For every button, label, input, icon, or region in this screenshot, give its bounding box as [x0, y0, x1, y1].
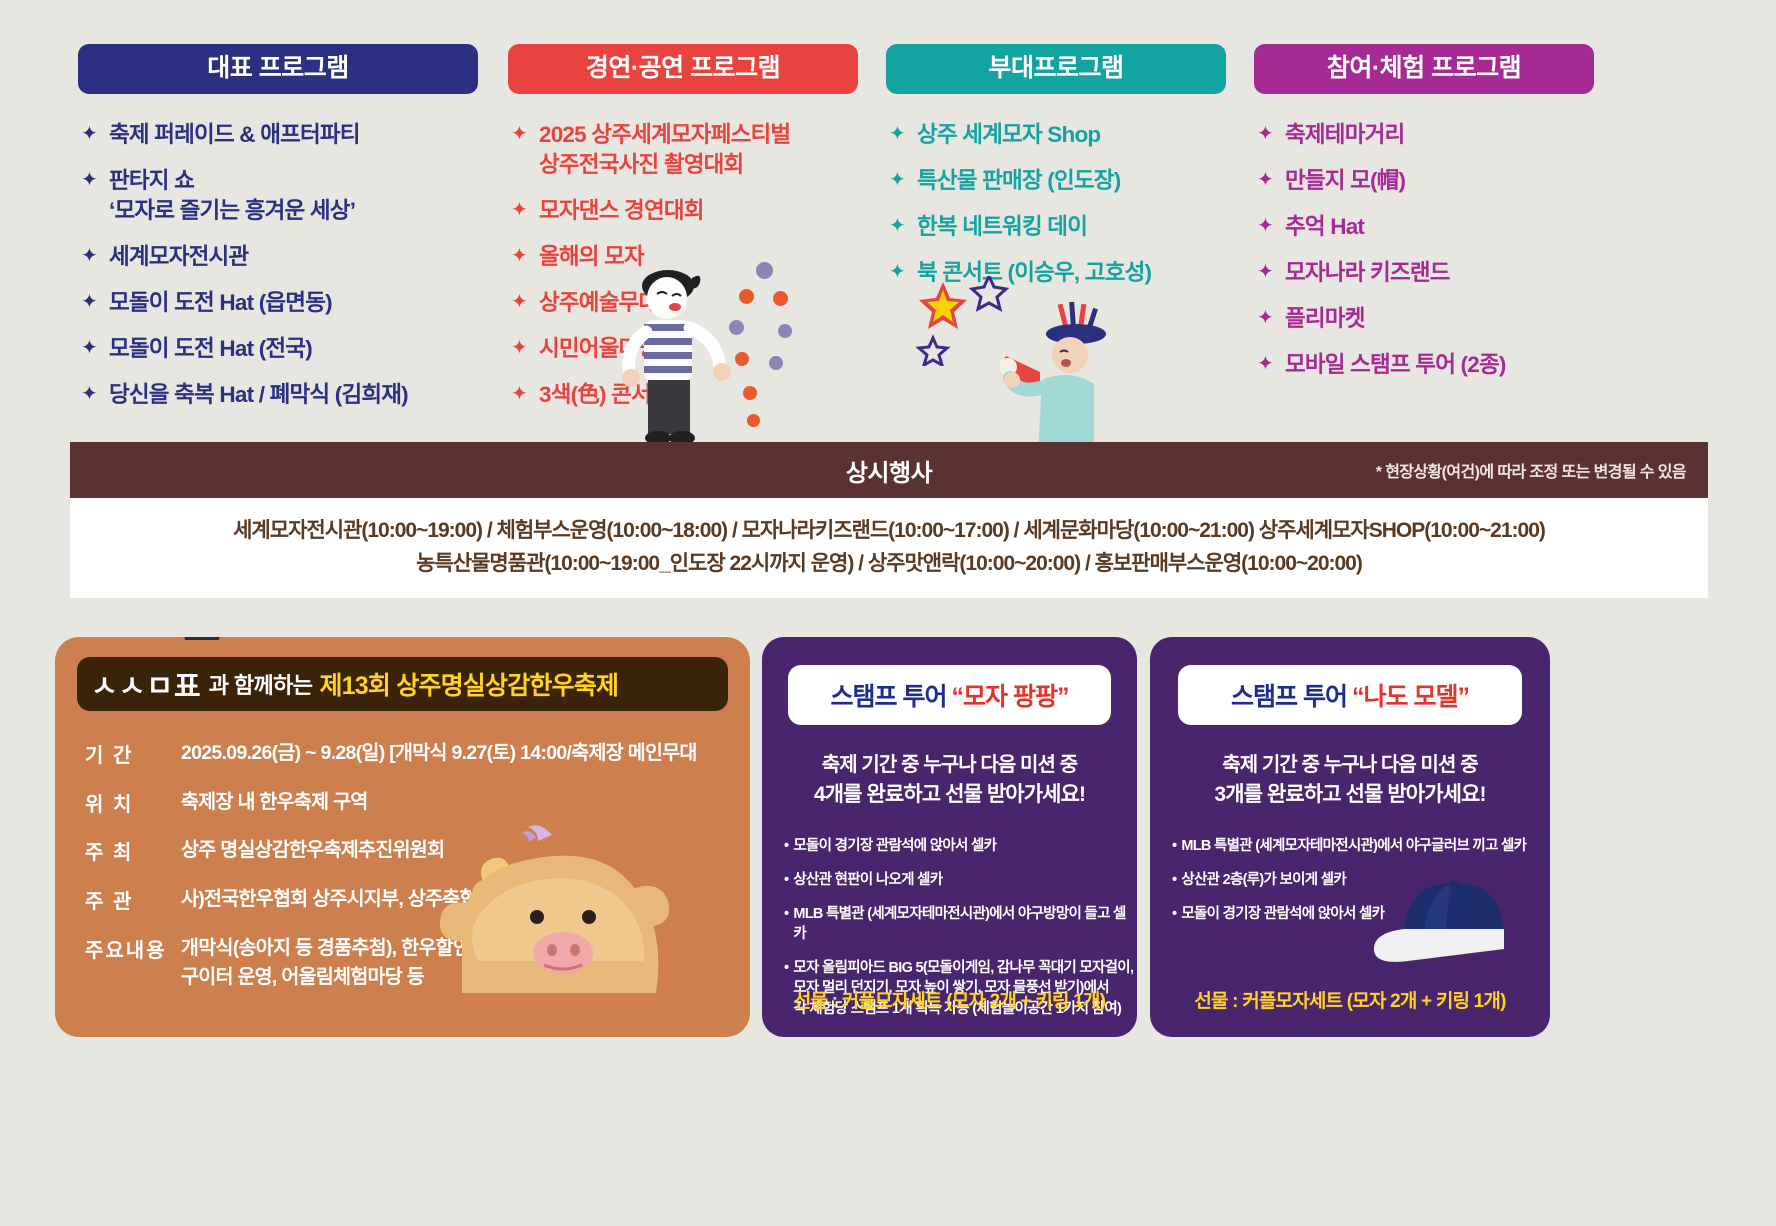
- stamp-card-subtitle: 축제 기간 중 누구나 다음 미션 중 3개를 완료하고 선물 받아가세요!: [1168, 751, 1532, 810]
- program-item: ✦모돌이 도전 Hat (읍면동): [78, 288, 478, 318]
- program-item-label: 축제테마거리: [1285, 120, 1594, 150]
- stamp-header-main: 스탬프 투어: [831, 677, 947, 713]
- program-item: ✦세계모자전시관: [78, 242, 478, 272]
- program-item-label: 플리마켓: [1285, 304, 1594, 334]
- program-item-label: 모돌이 도전 Hat (읍면동): [109, 288, 478, 318]
- hanwoo-title-main: 제13회 상주명실상감한우축제: [319, 666, 618, 702]
- juggle-ball: [743, 386, 757, 400]
- banner-schedule-line: 농특산물명품관(10:00~19:00_인도장 22시까지 운영) / 상주맛앤…: [416, 548, 1362, 581]
- sparkle-icon: ✦: [78, 120, 100, 149]
- hanwoo-card-title-bar: ㅅㅅㅁ표 과 함께하는 제13회 상주명실상감한우축제: [77, 657, 728, 711]
- sparkle-icon: ✦: [78, 380, 100, 409]
- program-item-label: 모바일 스탬프 투어 (2종): [1285, 350, 1594, 380]
- sparkle-icon: ✦: [1254, 120, 1276, 149]
- column-header-2: 부대프로그램: [886, 44, 1226, 94]
- info-label: 위 치: [85, 788, 181, 818]
- column-header-3: 참여·체험 프로그램: [1254, 44, 1594, 94]
- mission-item: •MLB 특별관 (세계모자테마전시관)에서 야구글러브 끼고 셀카: [1172, 836, 1550, 857]
- stamp-sub-line2: 3개를 완료하고 선물 받아가세요!: [1214, 783, 1485, 806]
- program-item-label: 모돌이 도전 Hat (전국): [109, 334, 478, 364]
- stamp-card-subtitle: 축제 기간 중 누구나 다음 미션 중 4개를 완료하고 선물 받아가세요!: [780, 751, 1119, 810]
- juggle-ball: [778, 324, 792, 338]
- black-hat-icon: [167, 637, 237, 648]
- mission-item: •모돌이 경기장 관람석에 앉아서 셀카: [784, 836, 1137, 857]
- hanwoo-title-mid: 과 함께하는: [209, 668, 313, 700]
- juggle-ball: [769, 356, 783, 370]
- program-item-label: 축제 퍼레이드 & 애프터파티: [109, 120, 478, 150]
- bullet-dot-icon: •: [784, 870, 788, 891]
- bullet-dot-icon: •: [784, 836, 788, 857]
- program-item: ✦상주 세계모자 Shop: [886, 120, 1226, 150]
- megaphone-performer-illustration: [990, 300, 1120, 460]
- program-item-label: 당신을 축복 Hat / 폐막식 (김희재): [109, 380, 478, 410]
- mime-juggler-illustration: [610, 262, 750, 462]
- program-item-label: 모자댄스 경연대회: [539, 196, 858, 226]
- sparkle-icon: ✦: [1254, 212, 1276, 241]
- program-item-label: 상주 세계모자 Shop: [917, 120, 1226, 150]
- sparkle-icon: ✦: [1254, 166, 1276, 195]
- program-item: ✦플리마켓: [1254, 304, 1594, 334]
- program-item-label: 2025 상주세계모자페스티벌 상주전국사진 촬영대회: [539, 120, 858, 180]
- always-on-events-banner: 상시행사 * 현장상황(여건)에 따라 조정 또는 변경될 수 있음: [70, 442, 1708, 498]
- bullet-dot-icon: •: [784, 904, 788, 945]
- program-item-label: 특산물 판매장 (인도장): [917, 166, 1226, 196]
- info-label: 주 관: [85, 885, 181, 915]
- sparkle-icon: ✦: [1254, 304, 1276, 333]
- juggle-ball: [756, 262, 773, 279]
- program-item: ✦축제 퍼레이드 & 애프터파티: [78, 120, 478, 150]
- stamp-header-main: 스탬프 투어: [1231, 677, 1347, 713]
- stamp-sub-line1: 축제 기간 중 누구나 다음 미션 중: [822, 754, 1077, 776]
- program-column-representative: 대표 프로그램 ✦축제 퍼레이드 & 애프터파티 ✦판타지 쇼 ‘모자로 즐기는…: [78, 44, 478, 444]
- sparkle-icon: ✦: [886, 212, 908, 241]
- info-label: 주 최: [85, 836, 181, 866]
- program-item: ✦모돌이 도전 Hat (전국): [78, 334, 478, 364]
- program-list-0: ✦축제 퍼레이드 & 애프터파티 ✦판타지 쇼 ‘모자로 즐기는 흥겨운 세상’…: [78, 120, 478, 409]
- sparkle-icon: ✦: [1254, 350, 1276, 379]
- cow-mascot-illustration: [432, 793, 722, 1037]
- juggle-ball: [739, 289, 754, 304]
- baseball-cap-illustration: [1368, 867, 1528, 967]
- program-item: ✦2025 상주세계모자페스티벌 상주전국사진 촬영대회: [508, 120, 858, 180]
- juggle-ball: [773, 291, 788, 306]
- info-label: 주요내용: [85, 934, 181, 993]
- info-row: 기 간 2025.09.26(금) ~ 9.28(일) [개막식 9.27(토)…: [85, 739, 725, 769]
- stamp-header-quote: “나도 모델”: [1352, 677, 1469, 713]
- program-item: ✦특산물 판매장 (인도장): [886, 166, 1226, 196]
- juggle-ball: [747, 414, 760, 427]
- sangju-logo: ㅅㅅㅁ표: [91, 663, 202, 705]
- mission-label: MLB 특별관 (세계모자테마전시관)에서 야구글러브 끼고 셀카: [1181, 836, 1550, 857]
- mission-item: •MLB 특별관 (세계모자테마전시관)에서 야구방망이 들고 셀카: [784, 904, 1137, 945]
- program-item-label: 판타지 쇼 ‘모자로 즐기는 흥겨운 세상’: [109, 166, 478, 226]
- stamp-header-quote: “모자 팡팡”: [952, 677, 1069, 713]
- sparkle-icon: ✦: [886, 166, 908, 195]
- stamp-sub-line1: 축제 기간 중 누구나 다음 미션 중: [1222, 754, 1477, 776]
- bullet-dot-icon: •: [1172, 836, 1176, 857]
- program-column-experience: 참여·체험 프로그램 ✦축제테마거리 ✦만들지 모(帽) ✦추억 Hat ✦모자…: [1254, 44, 1594, 444]
- hanwoo-festival-card: ㅅㅅㅁ표 과 함께하는 제13회 상주명실상감한우축제 기 간 2025.09.…: [55, 637, 750, 1037]
- stamp-sub-line2: 4개를 완료하고 선물 받아가세요!: [814, 783, 1085, 806]
- program-item-label: 세계모자전시관: [109, 242, 478, 272]
- stamp-gift-label: 선물 : 커플모자세트 (모자 2개 + 키링 1개): [762, 986, 1137, 1013]
- sparkle-icon: ✦: [508, 120, 530, 149]
- sparkle-icon: ✦: [508, 196, 530, 225]
- program-list-2: ✦상주 세계모자 Shop ✦특산물 판매장 (인도장) ✦한복 네트워킹 데이…: [886, 120, 1226, 288]
- juggle-ball: [729, 320, 744, 335]
- sparkle-icon: ✦: [508, 242, 530, 271]
- bullet-dot-icon: •: [1172, 904, 1176, 925]
- info-label: 기 간: [85, 739, 181, 769]
- stamp-card-header: 스탬프 투어 “모자 팡팡”: [788, 665, 1111, 725]
- sparkle-icon: ✦: [886, 120, 908, 149]
- stamp-gift-label: 선물 : 커플모자세트 (모자 2개 + 키링 1개): [1150, 986, 1550, 1013]
- program-item-label: 만들지 모(帽): [1285, 166, 1594, 196]
- banner-schedule-line: 세계모자전시관(10:00~19:00) / 체험부스운영(10:00~18:0…: [233, 515, 1545, 548]
- program-item-label: 추억 Hat: [1285, 212, 1594, 242]
- stamp-tour-card-nado-model: 스탬프 투어 “나도 모델” 축제 기간 중 누구나 다음 미션 중 3개를 완…: [1150, 637, 1550, 1037]
- program-columns: 대표 프로그램 ✦축제 퍼레이드 & 애프터파티 ✦판타지 쇼 ‘모자로 즐기는…: [0, 44, 1776, 444]
- program-item-label: 모자나라 키즈랜드: [1285, 258, 1594, 288]
- sparkle-icon: ✦: [78, 334, 100, 363]
- bullet-dot-icon: •: [1172, 870, 1176, 891]
- sparkle-icon: ✦: [78, 242, 100, 271]
- program-item: ✦만들지 모(帽): [1254, 166, 1594, 196]
- program-item: ✦당신을 축복 Hat / 폐막식 (김희재): [78, 380, 478, 410]
- mission-item: •상산관 현판이 나오게 셀카: [784, 870, 1137, 891]
- program-item: ✦축제테마거리: [1254, 120, 1594, 150]
- sparkle-icon: ✦: [78, 166, 100, 195]
- stamp-card-header: 스탬프 투어 “나도 모델”: [1178, 665, 1522, 725]
- sparkle-icon: ✦: [1254, 258, 1276, 287]
- sparkle-icon: ✦: [508, 380, 530, 409]
- program-list-3: ✦축제테마거리 ✦만들지 모(帽) ✦추억 Hat ✦모자나라 키즈랜드 ✦플리…: [1254, 120, 1594, 380]
- program-item: ✦추억 Hat: [1254, 212, 1594, 242]
- program-item: ✦판타지 쇼 ‘모자로 즐기는 흥겨운 세상’: [78, 166, 478, 226]
- poster-root: 대표 프로그램 ✦축제 퍼레이드 & 애프터파티 ✦판타지 쇼 ‘모자로 즐기는…: [0, 0, 1776, 1226]
- column-header-1: 경연·공연 프로그램: [508, 44, 858, 94]
- juggle-ball: [735, 352, 749, 366]
- stamp-tour-card-hat-pangpang: 스탬프 투어 “모자 팡팡” 축제 기간 중 누구나 다음 미션 중 4개를 완…: [762, 637, 1137, 1037]
- program-item: ✦한복 네트워킹 데이: [886, 212, 1226, 242]
- program-item: ✦모자나라 키즈랜드: [1254, 258, 1594, 288]
- column-header-0: 대표 프로그램: [78, 44, 478, 94]
- mission-label: 상산관 현판이 나오게 셀카: [793, 870, 1137, 891]
- always-on-events-body: 세계모자전시관(10:00~19:00) / 체험부스운영(10:00~18:0…: [70, 498, 1708, 598]
- banner-note: * 현장상황(여건)에 따라 조정 또는 변경될 수 있음: [1376, 442, 1686, 498]
- info-value: 2025.09.26(금) ~ 9.28(일) [개막식 9.27(토) 14:…: [181, 739, 725, 769]
- sparkle-icon: ✦: [78, 288, 100, 317]
- mission-label: MLB 특별관 (세계모자테마전시관)에서 야구방망이 들고 셀카: [793, 904, 1137, 945]
- program-item: ✦모바일 스탬프 투어 (2종): [1254, 350, 1594, 380]
- mission-label: 모돌이 경기장 관람석에 앉아서 셀카: [793, 836, 1137, 857]
- program-item-label: 한복 네트워킹 데이: [917, 212, 1226, 242]
- sparkle-icon: ✦: [508, 288, 530, 317]
- program-item: ✦모자댄스 경연대회: [508, 196, 858, 226]
- sparkle-icon: ✦: [508, 334, 530, 363]
